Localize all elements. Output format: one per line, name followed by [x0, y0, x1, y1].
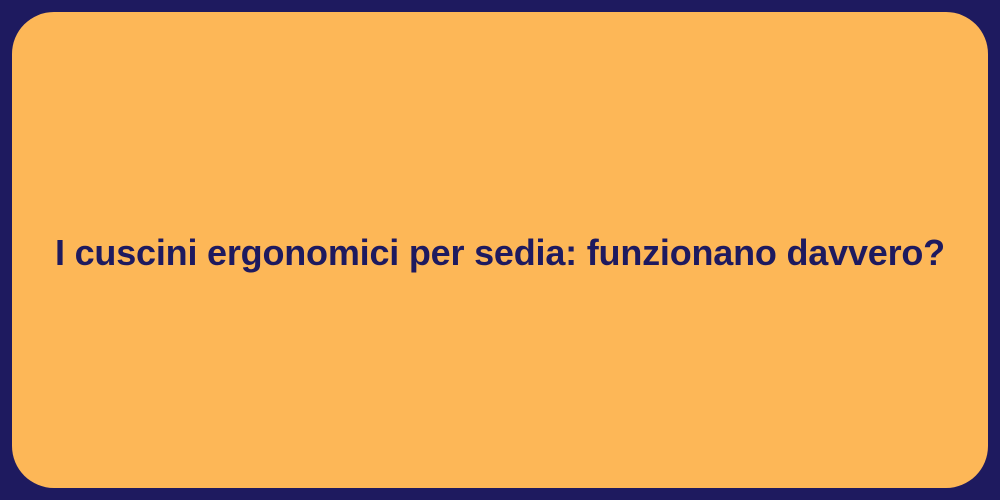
page-background: I cuscini ergonomici per sedia: funziona… — [0, 0, 1000, 500]
page-title: I cuscini ergonomici per sedia: funziona… — [55, 230, 945, 275]
title-card: I cuscini ergonomici per sedia: funziona… — [12, 12, 988, 488]
title-container: I cuscini ergonomici per sedia: funziona… — [12, 230, 988, 275]
